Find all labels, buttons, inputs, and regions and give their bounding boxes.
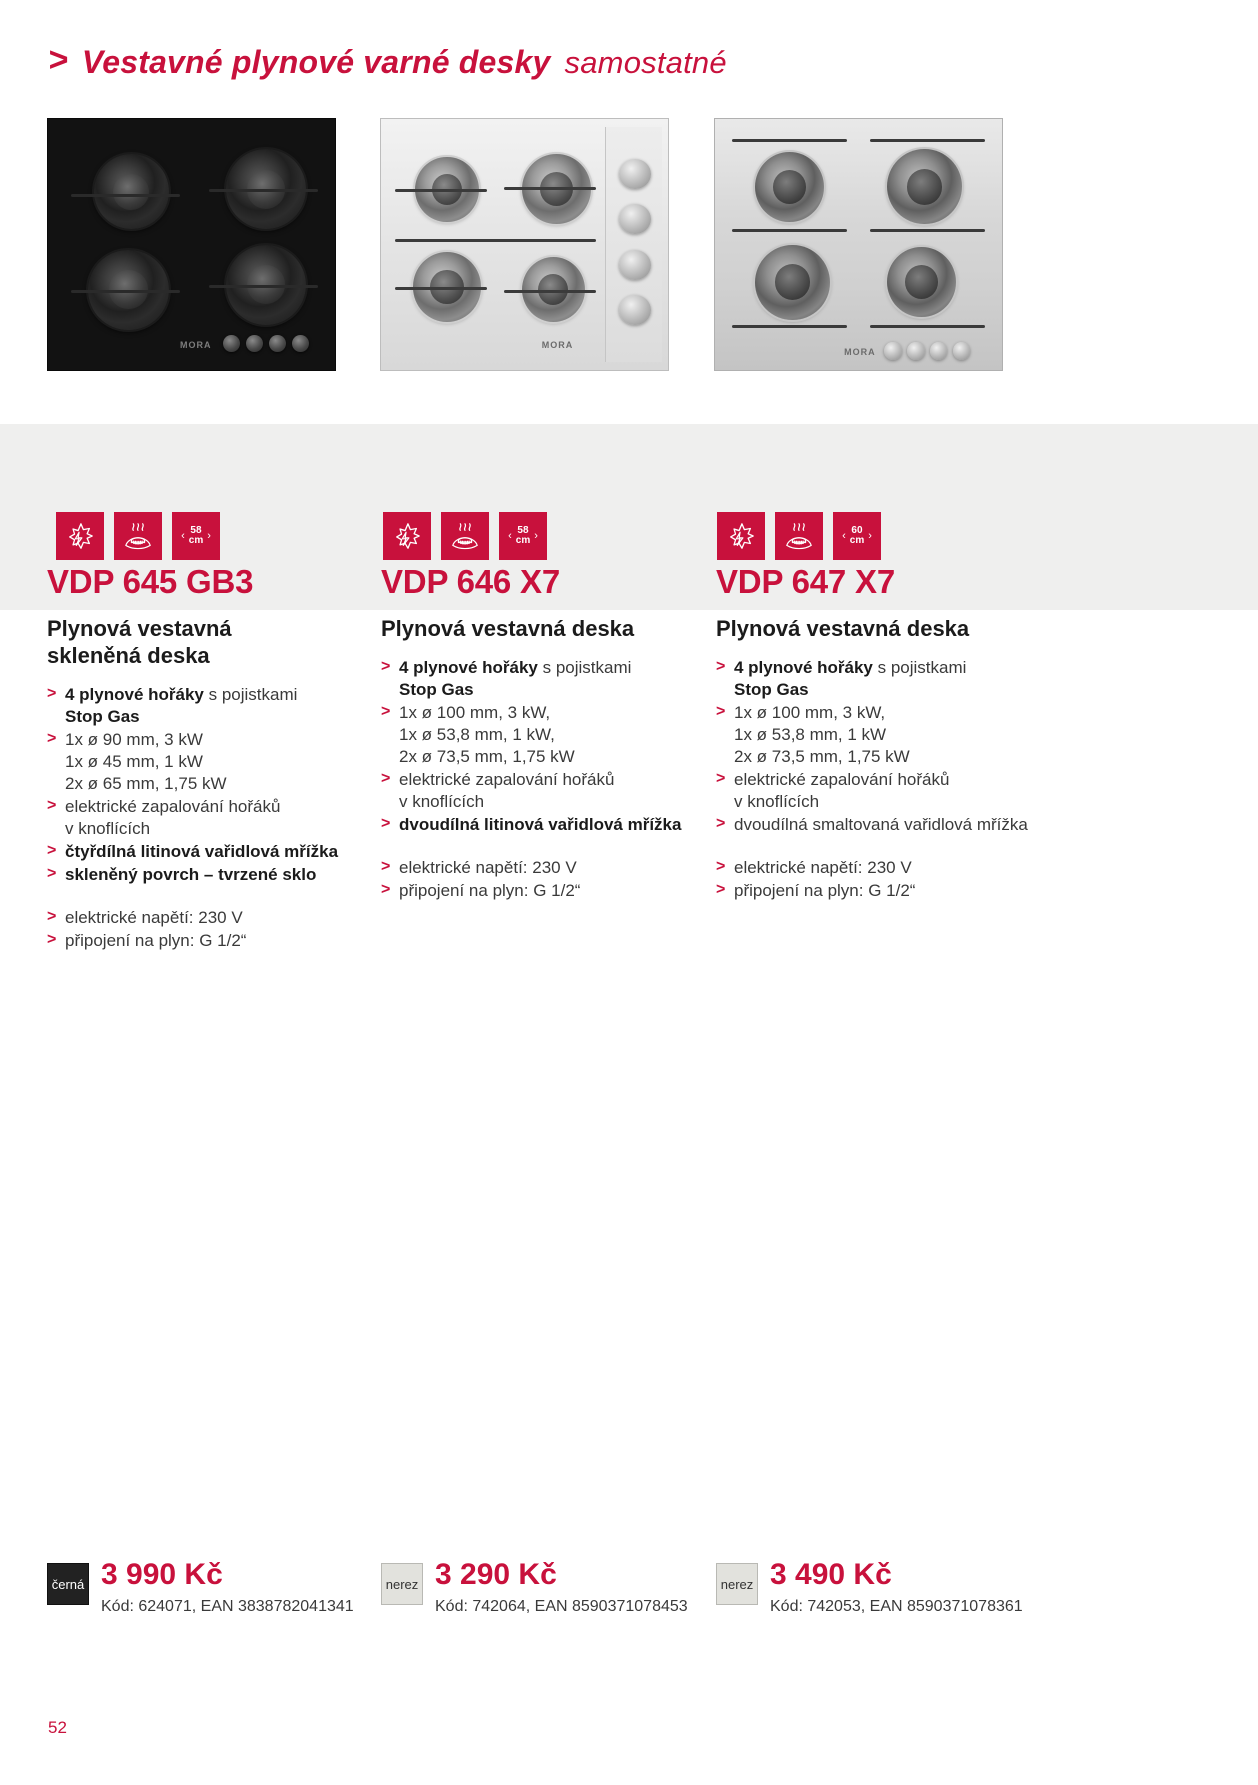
spec-item: > 1x ø 100 mm, 3 kW, 1x ø 53,8 mm, 1 kW … — [716, 702, 1046, 768]
control-knob — [269, 335, 286, 353]
pan-support-grate — [504, 290, 596, 293]
spec-sub: 1x ø 53,8 mm, 1 kW, — [399, 724, 711, 746]
burner — [887, 247, 956, 317]
spec-text: elektrické napětí: 230 V — [65, 908, 243, 927]
spec-text: 1x ø 100 mm, 3 kW, — [399, 703, 550, 722]
subtitle-line-1: Plynová vestavná deska — [716, 616, 969, 641]
page-title-light: samostatné — [565, 45, 727, 81]
pan-support-grate — [732, 139, 847, 142]
spec-item: > 4 plynové hořáky s pojistkami Stop Gas — [47, 684, 377, 728]
spec-item: > elektrické zapalování hořáků v knoflíc… — [381, 769, 711, 813]
width-unit: cm — [850, 536, 864, 546]
page-number: 52 — [48, 1718, 67, 1738]
spec-item: > elektrické napětí: 230 V — [716, 857, 1046, 879]
feature-icons-vdp-645-gb3: ‹ 58 cm › — [56, 512, 220, 560]
spec-sub: 2x ø 73,5 mm, 1,75 kW — [399, 746, 711, 768]
control-knob — [884, 342, 901, 360]
spec-text: elektrické zapalování hořáků — [65, 797, 280, 816]
spec-list: > 4 plynové hořáky s pojistkami Stop Gas… — [47, 684, 377, 952]
control-knob — [619, 250, 651, 280]
spec-bold: 4 plynové hořáky — [734, 658, 873, 677]
spec-bold: dvoudílná litinová vařidlová mřížka — [399, 815, 681, 834]
spec-sub: 1x ø 45 mm, 1 kW — [65, 751, 377, 773]
spec-item: > elektrické napětí: 230 V — [47, 907, 377, 929]
product-image-vdp-645-gb3: MORA — [47, 118, 336, 371]
pan-support-grate — [71, 290, 180, 293]
bullet-icon: > — [716, 814, 725, 835]
pan-support-grate — [504, 187, 596, 190]
bullet-icon: > — [716, 880, 725, 901]
spec-text: elektrické napětí: 230 V — [734, 858, 912, 877]
product-subtitle: Plynová vestavná skleněná deska — [47, 616, 377, 670]
spec-item: > elektrické zapalování hořáků v knoflíc… — [716, 769, 1046, 813]
width-60cm-icon: ‹ 60 cm › — [833, 512, 881, 560]
hob-black-glass: MORA — [47, 118, 336, 371]
width-unit: cm — [189, 536, 203, 546]
spec-item: > 4 plynové hořáky s pojistkami Stop Gas — [381, 657, 711, 701]
bullet-icon: > — [47, 729, 56, 750]
spec-text: 1x ø 100 mm, 3 kW, — [734, 703, 885, 722]
spec-sub-bold: Stop Gas — [734, 679, 1046, 701]
spec-sub: 2x ø 65 mm, 1,75 kW — [65, 773, 377, 795]
bullet-icon: > — [716, 702, 725, 723]
spec-rest: s pojistkami — [538, 658, 632, 677]
bullet-icon: > — [381, 814, 390, 835]
spec-list: > 4 plynové hořáky s pojistkami Stop Gas… — [381, 657, 711, 902]
bullet-icon: > — [381, 657, 390, 678]
pan-support-grate — [71, 194, 180, 197]
burner — [94, 154, 169, 229]
product-name-vdp-646-x7: VDP 646 X7 — [381, 563, 560, 601]
page-title: > Vestavné plynové varné desky samostatn… — [48, 44, 727, 81]
control-knob — [907, 342, 924, 360]
control-knob — [619, 295, 651, 325]
bullet-icon: > — [47, 684, 56, 705]
spec-column-vdp-646-x7: Plynová vestavná deska > 4 plynové hořák… — [381, 616, 711, 903]
product-image-vdp-647-x7: MORA — [714, 118, 1003, 371]
spec-text: připojení na plyn: G 1/2“ — [65, 931, 246, 950]
hob-white-enamel: MORA — [380, 118, 669, 371]
burner — [887, 149, 962, 224]
subtitle-line-2: skleněná deska — [47, 643, 210, 668]
width-58cm-icon: ‹ 58 cm › — [499, 512, 547, 560]
burner — [755, 152, 824, 222]
control-knob — [246, 335, 263, 353]
product-subtitle: Plynová vestavná deska — [716, 616, 1046, 643]
bullet-icon: > — [716, 769, 725, 790]
brand-mark: MORA — [542, 340, 574, 350]
control-knob — [619, 159, 651, 189]
price-value: 3 990 Kč — [101, 1560, 354, 1590]
spec-item: > dvoudílná litinová vařidlová mřížka — [381, 814, 711, 836]
arrow-left-icon: ‹ — [508, 531, 512, 542]
spec-item: > 4 plynové hořáky s pojistkami Stop Gas — [716, 657, 1046, 701]
price-block-vdp-647-x7: nerez 3 490 Kč Kód: 742053, EAN 85903710… — [716, 1560, 1023, 1616]
brand-mark: MORA — [180, 340, 212, 350]
spec-list: > 4 plynové hořáky s pojistkami Stop Gas… — [716, 657, 1046, 902]
product-code-ean: Kód: 624071, EAN 3838782041341 — [101, 1597, 354, 1616]
pan-support-grate — [732, 325, 847, 328]
spec-item: > čtyřdílná litinová vařidlová mřížka — [47, 841, 377, 863]
pan-support-grate — [870, 229, 985, 232]
arrow-left-icon: ‹ — [842, 531, 846, 542]
spec-sub: 1x ø 53,8 mm, 1 kW — [734, 724, 1046, 746]
bullet-icon: > — [381, 880, 390, 901]
pan-support-grate — [732, 229, 847, 232]
bullet-icon: > — [47, 864, 56, 885]
catalog-page: > Vestavné plynové varné desky samostatn… — [0, 0, 1258, 1785]
spec-rest: s pojistkami — [204, 685, 298, 704]
hob-stainless-steel: MORA — [714, 118, 1003, 371]
color-swatch-black: černá — [47, 1563, 89, 1605]
price-value: 3 490 Kč — [770, 1560, 1023, 1590]
spec-item: > připojení na plyn: G 1/2“ — [716, 880, 1046, 902]
bullet-icon: > — [47, 930, 56, 951]
burner — [755, 245, 830, 320]
spec-bold: čtyřdílná litinová vařidlová mřížka — [65, 842, 338, 861]
spec-text: připojení na plyn: G 1/2“ — [734, 881, 915, 900]
control-knob — [619, 204, 651, 234]
arrow-right-icon: › — [534, 531, 538, 542]
gas-burner-icon — [441, 512, 489, 560]
price-block-vdp-646-x7: nerez 3 290 Kč Kód: 742064, EAN 85903710… — [381, 1560, 688, 1616]
spec-text: elektrické zapalování hořáků — [734, 770, 949, 789]
feature-icons-vdp-647-x7: ‹ 60 cm › — [717, 512, 881, 560]
product-code-ean: Kód: 742064, EAN 8590371078453 — [435, 1597, 688, 1616]
spec-rest: s pojistkami — [873, 658, 967, 677]
spark-ignition-icon — [383, 512, 431, 560]
price-value: 3 290 Kč — [435, 1560, 688, 1590]
brand-mark: MORA — [844, 347, 876, 357]
product-image-vdp-646-x7: MORA — [380, 118, 669, 371]
width-unit: cm — [516, 536, 530, 546]
chevron-right-icon: > — [48, 43, 68, 77]
spec-sub-bold: Stop Gas — [65, 706, 377, 728]
product-code-ean: Kód: 742053, EAN 8590371078361 — [770, 1597, 1023, 1616]
spec-item: > dvoudílná smaltovaná vařidlová mřížka — [716, 814, 1046, 836]
product-image-strip: MORA MORA — [0, 118, 1258, 418]
page-title-bold: Vestavné plynové varné desky — [82, 44, 551, 81]
arrow-right-icon: › — [207, 531, 211, 542]
spec-text: připojení na plyn: G 1/2“ — [399, 881, 580, 900]
bullet-icon: > — [716, 857, 725, 878]
spec-item: > připojení na plyn: G 1/2“ — [47, 930, 377, 952]
pan-support-grate — [395, 239, 596, 242]
subtitle-line-1: Plynová vestavná deska — [381, 616, 634, 641]
bullet-icon: > — [716, 657, 725, 678]
pan-support-grate — [209, 189, 318, 192]
spec-bold: skleněný povrch – tvrzené sklo — [65, 865, 316, 884]
arrow-right-icon: › — [868, 531, 872, 542]
spec-bold: 4 plynové hořáky — [65, 685, 204, 704]
pan-support-grate — [870, 139, 985, 142]
spec-item: > 1x ø 90 mm, 3 kW 1x ø 45 mm, 1 kW 2x ø… — [47, 729, 377, 795]
color-swatch-inox: nerez — [716, 1563, 758, 1605]
spec-item: > 1x ø 100 mm, 3 kW, 1x ø 53,8 mm, 1 kW,… — [381, 702, 711, 768]
bullet-icon: > — [47, 841, 56, 862]
spec-sub: v knoflících — [399, 791, 711, 813]
pan-support-grate — [870, 325, 985, 328]
spark-ignition-icon — [56, 512, 104, 560]
price-block-vdp-645-gb3: černá 3 990 Kč Kód: 624071, EAN 38387820… — [47, 1560, 354, 1616]
spec-sub: 2x ø 73,5 mm, 1,75 kW — [734, 746, 1046, 768]
pan-support-grate — [395, 189, 487, 192]
pan-support-grate — [209, 285, 318, 288]
bullet-icon: > — [381, 769, 390, 790]
spec-sub-bold: Stop Gas — [399, 679, 711, 701]
arrow-left-icon: ‹ — [181, 531, 185, 542]
subtitle-line-1: Plynová vestavná — [47, 616, 232, 641]
width-58cm-icon: ‹ 58 cm › — [172, 512, 220, 560]
bullet-icon: > — [381, 857, 390, 878]
spark-ignition-icon — [717, 512, 765, 560]
product-name-vdp-647-x7: VDP 647 X7 — [716, 563, 895, 601]
spec-item: > elektrické zapalování hořáků v knoflíc… — [47, 796, 377, 840]
gas-burner-icon — [775, 512, 823, 560]
spec-sub: v knoflících — [734, 791, 1046, 813]
bullet-icon: > — [47, 907, 56, 928]
spec-column-vdp-647-x7: Plynová vestavná deska > 4 plynové hořák… — [716, 616, 1046, 903]
spec-item: > připojení na plyn: G 1/2“ — [381, 880, 711, 902]
color-swatch-inox: nerez — [381, 1563, 423, 1605]
control-knob — [930, 342, 947, 360]
product-name-vdp-645-gb3: VDP 645 GB3 — [47, 563, 253, 601]
bullet-icon: > — [47, 796, 56, 817]
spec-item: > elektrické napětí: 230 V — [381, 857, 711, 879]
spec-bold: 4 plynové hořáky — [399, 658, 538, 677]
product-subtitle: Plynová vestavná deska — [381, 616, 711, 643]
bullet-icon: > — [381, 702, 390, 723]
spec-text: elektrické zapalování hořáků — [399, 770, 614, 789]
spec-text: 1x ø 90 mm, 3 kW — [65, 730, 203, 749]
spec-text: elektrické napětí: 230 V — [399, 858, 577, 877]
spec-sub: v knoflících — [65, 818, 377, 840]
spec-item: > skleněný povrch – tvrzené sklo — [47, 864, 377, 886]
gas-burner-icon — [114, 512, 162, 560]
feature-icons-vdp-646-x7: ‹ 58 cm › — [383, 512, 547, 560]
control-knob — [292, 335, 309, 353]
spec-column-vdp-645-gb3: Plynová vestavná skleněná deska > 4 plyn… — [47, 616, 377, 953]
control-knob — [223, 335, 240, 353]
spec-text: dvoudílná smaltovaná vařidlová mřížka — [734, 815, 1028, 834]
control-knob — [953, 342, 970, 360]
pan-support-grate — [395, 287, 487, 290]
